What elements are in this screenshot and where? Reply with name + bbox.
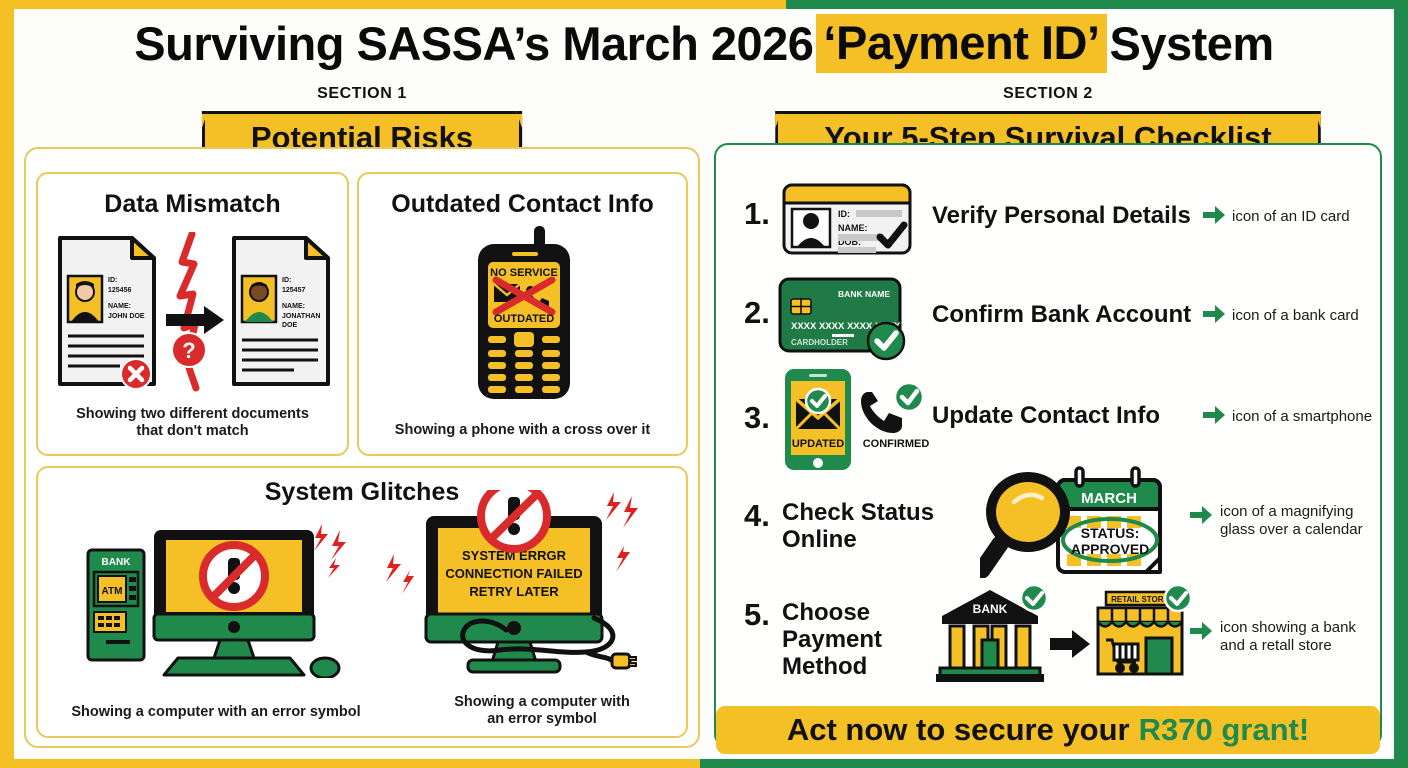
- page-title: Surviving SASSA’s March 2026 ‘Payment ID…: [0, 8, 1408, 78]
- step-desc-4: icon of a magnifying glass over a calend…: [1220, 503, 1363, 539]
- step-number-4: 4.: [744, 498, 770, 534]
- svg-text:BANK: BANK: [973, 602, 1008, 616]
- risk-card-caption: Showing a phone with a cross over it: [359, 422, 686, 439]
- svg-text:JOHN DOE: JOHN DOE: [108, 313, 145, 320]
- step-number-2: 2.: [744, 295, 770, 331]
- risk-card-system-glitches: System Glitches BANK ATM: [36, 466, 688, 738]
- svg-text:UPDATED: UPDATED: [792, 438, 844, 450]
- bank-card-icon: BANK NAME XXXX XXXX XXXX XXXX CARDHOLDER: [778, 277, 920, 361]
- step-number-1: 1.: [744, 196, 770, 232]
- step-label-2: Confirm Bank Account: [932, 302, 1191, 329]
- bank-retail-icon: BANK RETAIL STORE: [930, 586, 1192, 684]
- svg-text:MARCH: MARCH: [1081, 490, 1137, 507]
- svg-text:ATM: ATM: [102, 586, 123, 597]
- magnifier-calendar-icon: MARCH STATUS: APPROVED: [980, 466, 1170, 578]
- step-label-3: Update Contact Info: [932, 403, 1160, 430]
- svg-text:RETAIL STORE: RETAIL STORE: [1111, 595, 1169, 604]
- cta-banner[interactable]: Act now to secure your R370 grant!: [716, 706, 1380, 754]
- svg-text:STATUS:: STATUS:: [1081, 525, 1140, 541]
- svg-text:RETRY LATER: RETRY LATER: [469, 584, 559, 599]
- step-label-5: Choose Payment Method: [782, 600, 882, 681]
- svg-text:BANK NAME: BANK NAME: [838, 289, 890, 299]
- arrow-right-icon: [1190, 622, 1212, 640]
- svg-text:125457: 125457: [282, 287, 305, 294]
- document-mismatch-illustration: ID: 125456 NAME: JOHN DOE: [54, 232, 336, 392]
- svg-text:NAME:: NAME:: [108, 303, 131, 310]
- id-card-icon: ID: NAME: DOB:: [782, 183, 912, 255]
- svg-text:ID:: ID:: [838, 209, 850, 219]
- risk-card-caption-left: Showing a computer with an error symbol: [38, 704, 394, 721]
- risk-card-data-mismatch: Data Mismatch ID: 125456 NAME: JOHN DOE: [36, 172, 349, 456]
- frame-bar-left: [0, 0, 14, 768]
- risk-card-caption: Showing two different documents that don…: [38, 406, 347, 440]
- svg-text:CONFIRMED: CONFIRMED: [863, 438, 930, 450]
- step-number-3: 3.: [744, 400, 770, 436]
- infographic-page: Surviving SASSA’s March 2026 ‘Payment ID…: [0, 0, 1408, 768]
- cta-text: Act now to secure your: [787, 712, 1130, 748]
- arrow-right-icon: [1203, 305, 1225, 323]
- arrow-right-icon: [1203, 406, 1225, 424]
- section1-kicker: SECTION 1: [24, 85, 700, 103]
- step-desc-5: icon showing a bank and a retall store: [1220, 619, 1356, 655]
- step-number-5: 5.: [744, 597, 770, 633]
- page-title-part2: System: [1110, 16, 1274, 71]
- frame-bar-bottom-left: [0, 759, 700, 768]
- cta-highlight: R370 grant!: [1139, 712, 1310, 748]
- section2-kicker: SECTION 2: [714, 85, 1382, 103]
- svg-text:NO SERVICE: NO SERVICE: [490, 267, 558, 279]
- svg-text:APPROVED: APPROVED: [1071, 541, 1150, 557]
- step-desc-2: icon of a bank card: [1232, 307, 1359, 325]
- svg-text:CONNECTION FAILED: CONNECTION FAILED: [445, 566, 582, 581]
- feature-phone-no-service-illustration: NO SERVICE OUTDATED: [464, 226, 584, 401]
- system-error-monitor-illustration: SYSTEM ERRGR CONNECTION FAILED RETRY LAT…: [380, 490, 642, 680]
- page-title-highlight: ‘Payment ID’: [816, 14, 1106, 73]
- svg-text:DOE: DOE: [282, 322, 298, 329]
- svg-text:NAME:: NAME:: [838, 223, 868, 233]
- svg-text:JONATHAN: JONATHAN: [282, 313, 320, 320]
- svg-text:125456: 125456: [108, 287, 131, 294]
- atm-and-error-monitor-illustration: BANK ATM: [82, 518, 352, 678]
- step-label-1: Verify Personal Details: [932, 203, 1191, 230]
- risk-card-outdated-contact: Outdated Contact Info NO SERVICE OUTDATE…: [357, 172, 688, 456]
- frame-bar-right: [1394, 0, 1408, 768]
- svg-text:NAME:: NAME:: [282, 303, 305, 310]
- svg-text:?: ?: [182, 338, 195, 363]
- risk-card-title: Data Mismatch: [38, 190, 347, 219]
- risk-card-title: Outdated Contact Info: [359, 190, 686, 219]
- risk-card-caption-right: Showing a computer with an error symbol: [394, 694, 690, 728]
- page-title-part1: Surviving SASSA’s March 2026: [134, 16, 813, 71]
- svg-text:ID:: ID:: [282, 277, 291, 284]
- arrow-right-icon: [1203, 206, 1225, 224]
- step-desc-1: icon of an ID card: [1232, 208, 1350, 226]
- svg-text:BANK: BANK: [102, 557, 132, 568]
- svg-text:OUTDATED: OUTDATED: [494, 313, 554, 325]
- svg-text:CARDHOLDER: CARDHOLDER: [791, 338, 848, 347]
- frame-bar-bottom-right: [700, 759, 1408, 768]
- step-desc-3: icon of a smartphone: [1232, 408, 1372, 426]
- step-label-4: Check Status Online: [782, 500, 934, 554]
- smartphone-icon: UPDATED CONFIRMED: [783, 367, 938, 472]
- svg-text:ID:: ID:: [108, 277, 117, 284]
- arrow-right-icon: [1190, 506, 1212, 524]
